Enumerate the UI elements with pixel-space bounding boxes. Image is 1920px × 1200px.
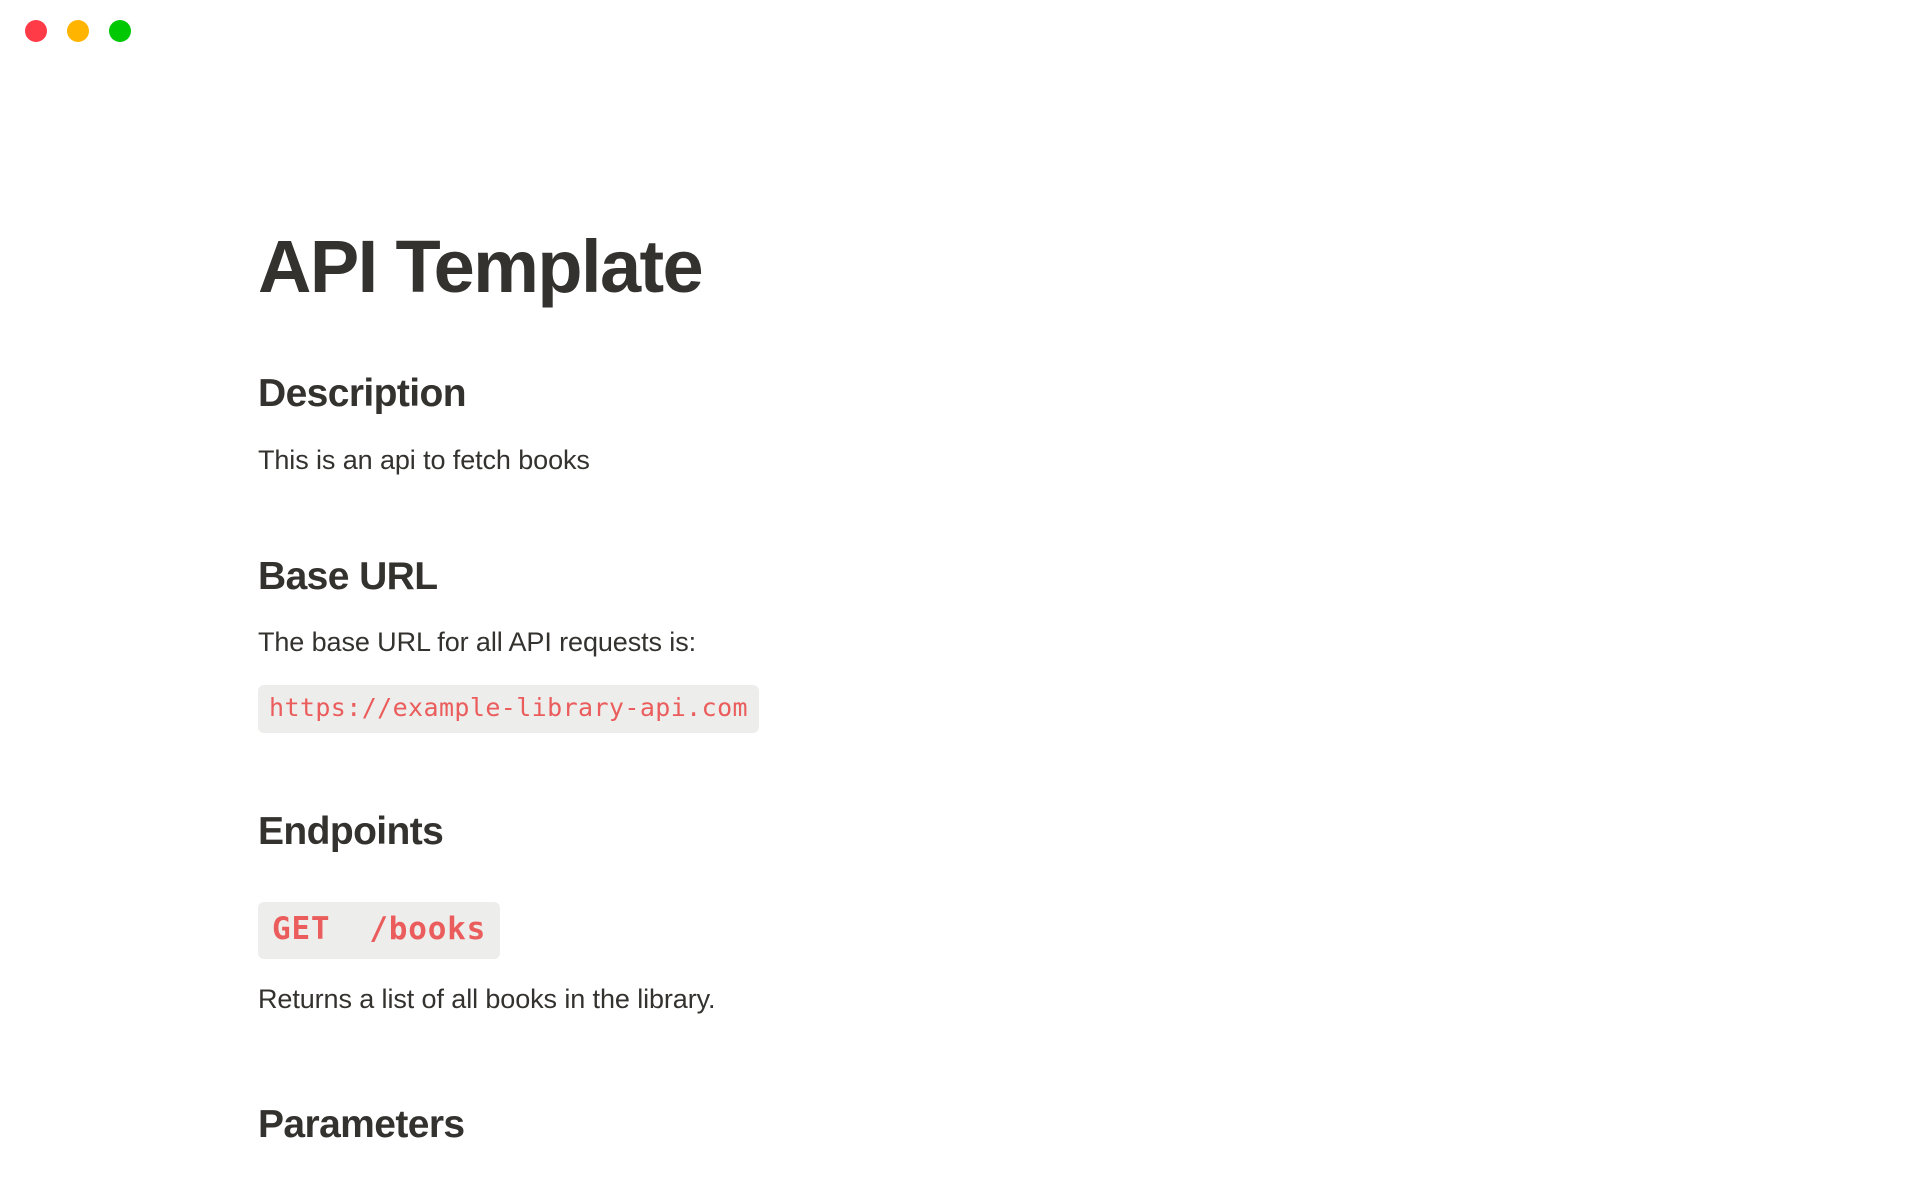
window-titlebar [0, 0, 1920, 62]
base-url-code-row: https://example-library-api.com [258, 660, 1400, 733]
maximize-window-button[interactable] [109, 20, 131, 42]
document-content: API Template Description This is an api … [0, 62, 1400, 1147]
section-heading-endpoints[interactable]: Endpoints [258, 810, 1400, 854]
minimize-window-button[interactable] [67, 20, 89, 42]
close-window-button[interactable] [25, 20, 47, 42]
endpoint-code-row: GET /books [258, 853, 1400, 958]
document-canvas[interactable]: API Template Description This is an api … [0, 62, 1920, 1200]
section-heading-parameters[interactable]: Parameters [258, 1103, 1400, 1147]
section-parameters: Parameters [258, 1103, 1400, 1147]
window-controls [25, 20, 131, 42]
section-description: Description This is an api to fetch book… [258, 372, 1400, 478]
base-url-paragraph[interactable]: The base URL for all API requests is: [258, 624, 1400, 660]
section-base-url: Base URL The base URL for all API reques… [258, 555, 1400, 733]
endpoint-get-books-chip[interactable]: GET /books [258, 902, 500, 958]
section-heading-description[interactable]: Description [258, 372, 1400, 416]
endpoint-description-paragraph[interactable]: Returns a list of all books in the libra… [258, 981, 1400, 1017]
app-window: API Template Description This is an api … [0, 0, 1920, 1200]
base-url-code-chip[interactable]: https://example-library-api.com [258, 685, 759, 733]
description-paragraph[interactable]: This is an api to fetch books [258, 442, 1400, 478]
section-endpoints: Endpoints GET /books Returns a list of a… [258, 810, 1400, 1017]
page-title[interactable]: API Template [258, 230, 1400, 304]
section-heading-base-url[interactable]: Base URL [258, 555, 1400, 599]
